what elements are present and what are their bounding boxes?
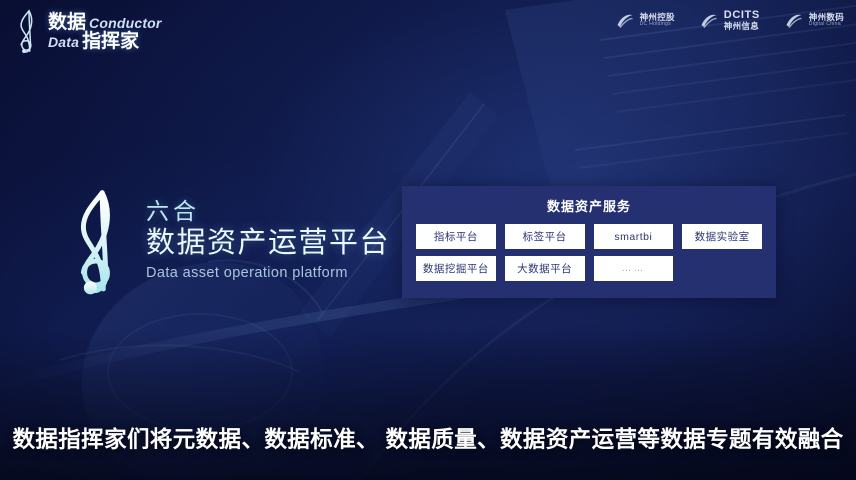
partner-logo-dc-holdings: 神州控股 DC Holdings: [615, 11, 675, 31]
slide-caption: 数据指挥家们将元数据、数据标准、 数据质量、数据资产运营等数据专题有效融合: [0, 422, 856, 454]
service-card-placeholder: [682, 256, 762, 281]
service-card-data-mining-platform[interactable]: 数据挖掘平台: [416, 256, 496, 281]
partner-logo-dcits: DCITS 神州信息: [699, 10, 760, 31]
service-card-smartbi[interactable]: smartbi: [594, 224, 674, 249]
swoosh-icon: [784, 11, 804, 31]
treble-clef-icon: [70, 188, 132, 296]
slide: 数据 Conductor Data 指挥家 神州控股 DC Holdings: [0, 0, 856, 480]
service-card-tag-platform[interactable]: 标签平台: [505, 224, 585, 249]
partner-name-cn: 神州信息: [724, 22, 760, 31]
brand-logo: 数据 Conductor Data 指挥家: [14, 8, 162, 54]
service-card-grid: 指标平台 标签平台 smartbi 数据实验室 数据挖掘平台 大数据平台 ……: [416, 224, 762, 281]
partner-name-en: DC Holdings: [640, 22, 675, 28]
brand-line1-cn: 数据: [48, 13, 86, 32]
title-subheading: Data asset operation platform: [146, 263, 390, 285]
service-card-metric-platform[interactable]: 指标平台: [416, 224, 496, 249]
brand-line2-en: Data: [48, 35, 79, 49]
swoosh-icon: [615, 11, 635, 31]
brand-line2-cn: 指挥家: [82, 32, 139, 51]
swoosh-icon: [699, 11, 719, 31]
service-card-more[interactable]: ……: [594, 256, 674, 281]
title-heading: 数据资产运营平台: [146, 225, 390, 263]
title-eyebrow: 六合: [146, 197, 390, 225]
service-card-data-lab[interactable]: 数据实验室: [682, 224, 762, 249]
partner-name-en: Digital China: [809, 22, 844, 28]
service-card-big-data-platform[interactable]: 大数据平台: [505, 256, 585, 281]
panel-title: 数据资产服务: [402, 186, 776, 215]
data-asset-service-panel: 数据资产服务 指标平台 标签平台 smartbi 数据实验室 数据挖掘平台 大数…: [402, 186, 776, 298]
brand-line1-en: Conductor: [89, 16, 162, 30]
page-title: 六合 数据资产运营平台 Data asset operation platfor…: [70, 186, 390, 296]
partner-logos: 神州控股 DC Holdings DCITS 神州信息 神州数码 Digital…: [615, 10, 844, 31]
bottom-fade-overlay: [0, 330, 856, 480]
partner-logo-digital-china: 神州数码 Digital China: [784, 11, 844, 31]
treble-clef-icon: [14, 8, 44, 54]
